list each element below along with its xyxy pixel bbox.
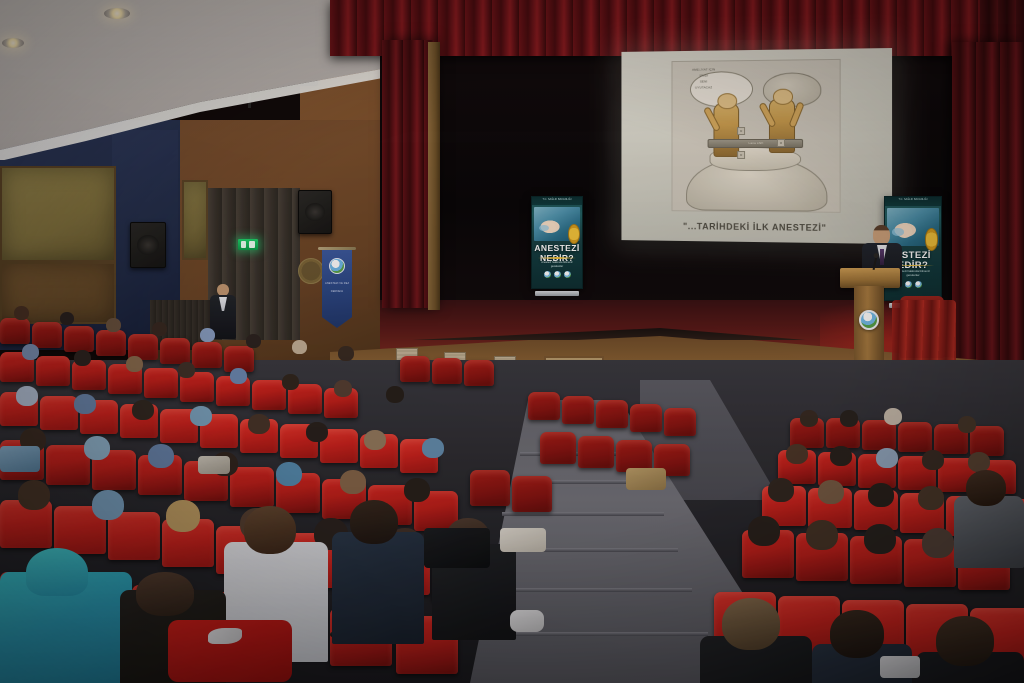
head <box>152 322 167 336</box>
rollup-banner-left: T.C. SAĞLIK BAKANLIĞI ANESTEZİ NEDİR? An… <box>531 196 583 296</box>
cartoon-arm-left <box>703 106 721 132</box>
bubble-line1: AMELİYAT İÇİN <box>674 67 733 72</box>
seat[interactable] <box>40 396 78 430</box>
seat[interactable] <box>160 338 190 364</box>
rollup-right-topbar: T.C. SAĞLIK BAKANLIĞI <box>885 197 941 206</box>
seat[interactable] <box>664 408 696 436</box>
rollup-left-subtext: Anestezi hakkında bilmeniz gerekenler <box>534 261 580 269</box>
auditorium-scene: ANESTEZİ VE REANİMASYON DERNEĞİ AMELİYAT… <box>0 0 1024 683</box>
head <box>968 452 990 472</box>
slide-mark-3: M <box>737 151 745 159</box>
seat[interactable] <box>540 432 576 464</box>
seat[interactable] <box>432 358 462 384</box>
ceiling-downlight-icon <box>2 38 24 48</box>
footer-logo-icon-a <box>544 271 551 278</box>
seat[interactable] <box>36 356 70 386</box>
head <box>722 598 780 650</box>
head-with-scarf <box>148 444 174 468</box>
head <box>248 414 270 434</box>
head-with-scarf <box>26 548 88 596</box>
standing-attendee-left <box>210 284 236 338</box>
head <box>748 516 780 546</box>
head <box>786 444 808 464</box>
head-with-scarf <box>422 438 444 458</box>
cartoon-head-right <box>773 89 793 105</box>
head-with-scarf <box>190 406 212 426</box>
seat[interactable] <box>108 512 160 560</box>
wall-seal-emblem <box>298 258 324 284</box>
notebook <box>198 456 230 474</box>
cartoon-head-left <box>717 93 737 109</box>
pennant-line2: DERNEĞİ <box>325 290 349 293</box>
rollup-right-topstrip: T.C. SAĞLIK BAKANLIĞI <box>885 197 941 202</box>
head-with-scarf <box>276 462 302 486</box>
seat[interactable] <box>528 392 560 420</box>
head <box>246 334 261 348</box>
head <box>60 312 74 325</box>
head <box>292 340 307 354</box>
seat[interactable] <box>898 422 932 452</box>
head <box>18 480 50 510</box>
head <box>364 430 386 450</box>
head <box>868 483 894 507</box>
seat[interactable] <box>630 404 662 432</box>
stone-table-label: Lana shift <box>709 141 805 145</box>
seat[interactable] <box>578 436 614 468</box>
head-with-scarf <box>22 344 39 360</box>
head-with-scarf <box>92 490 124 520</box>
seat[interactable] <box>464 360 494 386</box>
head <box>800 410 818 427</box>
footer-logo-icon-b <box>554 271 561 278</box>
slide-mark-2: M <box>777 139 785 147</box>
cartoon-stone-table: Lana shift <box>708 139 804 148</box>
head-with-scarf <box>876 448 898 468</box>
black-bag <box>424 528 490 568</box>
head <box>958 416 976 433</box>
torso-grey-sweater <box>954 496 1024 568</box>
head-with-scarf <box>84 436 110 460</box>
bubble-line3: SENİ <box>674 79 733 84</box>
head <box>386 386 404 403</box>
seat[interactable] <box>144 368 178 398</box>
seat[interactable] <box>562 396 594 424</box>
slide-mark-1: M <box>737 127 745 135</box>
pennant-emblem-icon <box>329 258 345 274</box>
seat[interactable] <box>32 322 62 348</box>
head <box>350 500 398 544</box>
head <box>864 524 896 554</box>
rollup-left-badge-icon <box>568 224 580 244</box>
head <box>404 478 430 502</box>
bag-blue <box>0 446 40 472</box>
slide-cartoon-image: AMELİYAT İÇİN ŞİMDİ SENİ UYUTACAZ Lana s… <box>671 59 840 213</box>
handbag <box>626 468 666 490</box>
pennant-rod <box>318 247 356 250</box>
seat[interactable] <box>512 476 552 512</box>
shoe <box>510 610 544 632</box>
loudspeaker-icon-center <box>298 190 332 234</box>
podium-emblem-icon <box>859 310 879 330</box>
head <box>126 356 143 372</box>
pennant-line1: ANESTEZİ VE REANİMASYON <box>325 282 349 285</box>
head <box>178 362 195 378</box>
head <box>136 572 194 616</box>
stage-curtain-post <box>428 42 440 310</box>
head <box>966 470 1006 506</box>
head <box>768 478 794 502</box>
head-with-scarf <box>16 386 38 406</box>
acoustic-panel-1 <box>0 166 116 262</box>
seat[interactable] <box>64 326 94 352</box>
stage-curtain-left <box>382 40 434 308</box>
head <box>830 610 884 658</box>
head <box>14 306 29 320</box>
seat[interactable] <box>96 330 126 356</box>
head <box>166 500 200 532</box>
seat[interactable] <box>0 318 30 344</box>
head <box>818 480 844 504</box>
wall-pennant-banner: ANESTEZİ VE REANİMASYON DERNEĞİ <box>322 250 352 328</box>
cartoon-arm-right-b <box>788 101 804 128</box>
head <box>338 346 354 361</box>
head <box>936 616 994 666</box>
rollup-left-rule <box>538 257 576 259</box>
head-with-scarf <box>74 394 96 414</box>
head <box>106 318 121 332</box>
head <box>334 380 352 397</box>
head <box>340 470 366 494</box>
seat[interactable] <box>192 342 222 368</box>
head <box>306 422 328 442</box>
slide-caption: "...TARİHDEKİ İLK ANESTEZİ" <box>621 220 892 233</box>
white-jacket-on-seat <box>500 528 546 552</box>
seat[interactable] <box>230 467 274 507</box>
head-with-scarf <box>230 368 247 384</box>
head <box>830 446 852 466</box>
head <box>884 408 902 425</box>
seat[interactable] <box>470 470 510 506</box>
loudspeaker-icon-left <box>130 222 166 268</box>
ceiling-downlight-icon <box>104 8 130 19</box>
footer-logo-icon-e <box>915 281 922 288</box>
torso-navy <box>332 532 424 644</box>
head <box>922 450 944 470</box>
cartoon-figure-left <box>713 103 739 157</box>
backpack-logo <box>208 628 242 644</box>
head-ponytail <box>244 506 296 554</box>
rollup-left-base <box>535 291 579 296</box>
bubble-line4: UYUTACAZ <box>674 85 733 90</box>
cartoon-arm-right-a <box>758 102 776 128</box>
bubble-line2: ŞİMDİ <box>674 73 733 78</box>
rollup-left-topstrip: T.C. SAĞLIK BAKANLIĞI <box>532 197 582 202</box>
footer-logo-icon-c <box>564 271 571 278</box>
footer-logo-icon-d <box>905 281 912 288</box>
head <box>806 520 838 550</box>
projection-screen: AMELİYAT İÇİN ŞİMDİ SENİ UYUTACAZ Lana s… <box>621 48 892 244</box>
rollup-left-topbar: T.C. SAĞLIK BAKANLIĞI <box>532 197 582 205</box>
head <box>74 350 91 366</box>
rollup-left-subtext-2: gerekenler <box>534 265 580 269</box>
speaker-tie <box>880 249 884 265</box>
head-with-scarf <box>200 328 215 342</box>
seat[interactable] <box>596 400 628 428</box>
acoustic-panel-3 <box>182 180 208 260</box>
rollup-left-footer-logos <box>532 269 582 280</box>
rollup-left-panel: T.C. SAĞLIK BAKANLIĞI ANESTEZİ NEDİR? An… <box>531 196 583 289</box>
head <box>918 486 944 510</box>
head <box>282 374 299 390</box>
speaker-head <box>873 225 890 245</box>
stage-curtain-right <box>952 42 1024 372</box>
paper-handout <box>880 656 920 678</box>
head <box>132 400 154 420</box>
rollup-right-badge-icon <box>925 228 938 251</box>
exit-sign <box>238 239 258 250</box>
seat[interactable] <box>400 356 430 382</box>
aisle-step-3 <box>502 512 664 516</box>
podium-desktop <box>840 268 900 288</box>
head <box>922 528 954 558</box>
head <box>840 410 858 427</box>
seat[interactable] <box>252 380 286 410</box>
